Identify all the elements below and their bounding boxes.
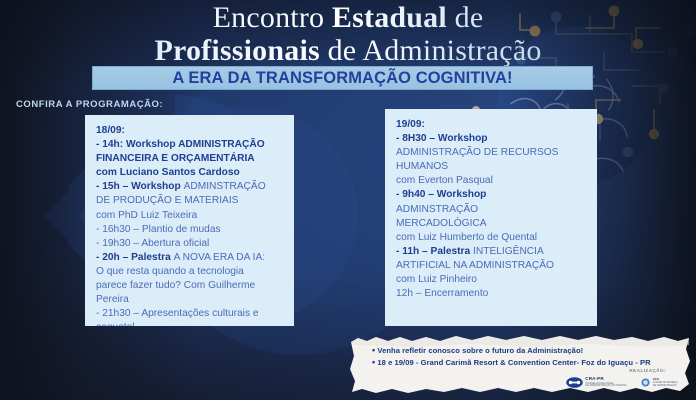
day2-lines: - 8H30 – WorkshopADMINISTRAÇÃO DE RECURS…: [396, 132, 586, 301]
title-word-de: de: [455, 1, 484, 34]
program-line-text: DE PRODUÇÃO E MATERIAIS: [96, 195, 238, 206]
bullet-dot-icon: •: [372, 345, 375, 355]
program-line-text: INTELIGÊNCIA: [473, 246, 544, 257]
program-line: - 9h40 – Workshop: [396, 188, 586, 202]
program-line: - 20h – Palestra A NOVA ERA DA IA:: [96, 251, 283, 265]
cra-pr-sub2: DE ADMINISTRAÇÃO DO PARANÁ: [585, 385, 627, 388]
program-line-text: 12h – Encerramento: [396, 288, 488, 299]
footer-bullets: • Venha refletir conosco sobre o futuro …: [372, 345, 672, 368]
program-line: parece fazer tudo? Com Guilherme: [96, 279, 283, 293]
logo-cra-pr: CRA-PR CONSELHO REGIONAL DE ADMINISTRAÇÃ…: [566, 377, 627, 388]
program-line-text: coquetel: [96, 322, 135, 326]
program-line: DE PRODUÇÃO E MATERIAIS: [96, 194, 283, 208]
cfa-emblem-icon: [636, 376, 651, 389]
program-line-text: com Everton Pasqual: [396, 175, 493, 186]
sponsor-logos: CRA-PR CONSELHO REGIONAL DE ADMINISTRAÇÃ…: [566, 376, 678, 389]
program-line-text: ADMINSTRAÇÃO: [184, 181, 266, 192]
program-line-text: com Luiz Humberto de Quental: [396, 232, 537, 243]
program-line-text: com Luiz Pinheiro: [396, 274, 477, 285]
program-line-text: ADMINISTRAÇÃO DE RECURSOS: [396, 147, 558, 158]
realization-label: REALIZAÇÃO:: [629, 368, 666, 373]
program-line-emphasis: - 9h40 – Workshop: [396, 189, 486, 200]
program-line-text: ARTIFICIAL NA ADMINISTRAÇÃO: [396, 260, 554, 271]
program-line-emphasis: - 8H30 – Workshop: [396, 133, 488, 144]
title-word-profissionais: Profissionais: [154, 34, 327, 67]
cfa-wordmark: CFA CONSELHO FEDERAL DE ADMINISTRAÇÃO: [653, 378, 678, 387]
program-line: O que resta quando a tecnologia: [96, 265, 283, 279]
program-line-text: Pereira: [96, 294, 129, 305]
program-line: - 8H30 – Workshop: [396, 132, 586, 146]
program-line: - 21h30 – Apresentações culturais e: [96, 307, 283, 321]
program-line-text: - 16h30 – Plantio de mudas: [96, 224, 221, 235]
program-line: MERCADOLÓGICA: [396, 217, 586, 231]
program-card-day1: 18/09: - 14h: Workshop ADMINISTRAÇÃOFINA…: [85, 115, 294, 326]
poster-title: Encontro Estadual de Profissionais de Ad…: [0, 2, 696, 67]
program-line-text: O que resta quando a tecnologia: [96, 266, 244, 277]
footer-bullet-1: • Venha refletir conosco sobre o futuro …: [372, 345, 672, 357]
footer-bullet-1-text: Venha refletir conosco sobre o futuro da…: [377, 346, 583, 355]
program-line-emphasis: - 11h – Palestra: [396, 246, 473, 257]
day1-lines: - 14h: Workshop ADMINISTRAÇÃOFINANCEIRA …: [96, 138, 283, 326]
day2-date: 19/09:: [396, 118, 586, 132]
title-word-estadual: Estadual: [324, 1, 454, 34]
program-line-text: - 21h30 – Apresentações culturais e: [96, 308, 259, 319]
program-line-emphasis: - 14h: Workshop ADMINISTRAÇÃO: [96, 139, 265, 150]
program-line: com PhD Luiz Teixeira: [96, 209, 283, 223]
cfa-sub2: DE ADMINISTRAÇÃO: [653, 385, 678, 387]
program-line: com Luiz Humberto de Quental: [396, 231, 586, 245]
program-line: - 15h – Workshop ADMINSTRAÇÃO: [96, 180, 283, 194]
program-line: ARTIFICIAL NA ADMINISTRAÇÃO: [396, 259, 586, 273]
program-line: coquetel: [96, 321, 283, 326]
cra-pr-wordmark: CRA-PR CONSELHO REGIONAL DE ADMINISTRAÇÃ…: [585, 377, 627, 387]
program-line-emphasis: - 20h – Palestra: [96, 252, 174, 263]
logo-cfa: CFA CONSELHO FEDERAL DE ADMINISTRAÇÃO: [636, 376, 678, 389]
footer-bullet-2: • 18 e 19/09 - Grand Carimã Resort & Con…: [372, 357, 672, 369]
title-word-encontro: Encontro: [213, 1, 325, 34]
program-label: CONFIRA A PROGRAMAÇÃO:: [16, 99, 163, 110]
program-line: 12h – Encerramento: [396, 287, 586, 301]
program-line-text: MERCADOLÓGICA: [396, 218, 487, 229]
program-line: - 19h30 – Abertura oficial: [96, 237, 283, 251]
footer-bullet-2-text: 18 e 19/09 - Grand Carimã Resort & Conve…: [377, 358, 650, 367]
program-line-text: HUMANOS: [396, 161, 448, 172]
poster: Encontro Estadual de Profissionais de Ad…: [0, 0, 696, 400]
program-line-emphasis: com Luciano Santos Cardoso: [96, 167, 240, 178]
program-line: - 16h30 – Plantio de mudas: [96, 223, 283, 237]
program-line: - 11h – Palestra INTELIGÊNCIA: [396, 245, 586, 259]
title-word-de-administracao: de Administração: [328, 34, 542, 67]
program-line: - 14h: Workshop ADMINISTRAÇÃO: [96, 138, 283, 152]
program-line: FINANCEIRA E ORÇAMENTÁRIA: [96, 152, 283, 166]
program-line-text: parece fazer tudo? Com Guilherme: [96, 280, 255, 291]
cra-pr-emblem-icon: [566, 377, 583, 388]
program-line: HUMANOS: [396, 160, 586, 174]
program-line: ADMINSTRAÇÃO: [396, 203, 586, 217]
program-line: Pereira: [96, 293, 283, 307]
title-line-2: Profissionais de Administração: [0, 35, 696, 67]
program-line-text: ADMINSTRAÇÃO: [396, 204, 478, 215]
program-line: com Everton Pasqual: [396, 174, 586, 188]
program-line-text: A NOVA ERA DA IA:: [174, 252, 266, 263]
program-line-text: - 19h30 – Abertura oficial: [96, 238, 209, 249]
title-line-1: Encontro Estadual de: [0, 2, 696, 34]
subtitle-text: A ERA DA TRANSFORMAÇÃO COGNITIVA!: [172, 69, 512, 88]
day1-date: 18/09:: [96, 124, 283, 138]
subtitle-banner: A ERA DA TRANSFORMAÇÃO COGNITIVA!: [92, 66, 593, 90]
program-line: ADMINISTRAÇÃO DE RECURSOS: [396, 146, 586, 160]
program-line: com Luciano Santos Cardoso: [96, 166, 283, 180]
program-card-day2: 19/09: - 8H30 – WorkshopADMINISTRAÇÃO DE…: [385, 109, 597, 326]
bullet-dot-icon: •: [372, 357, 375, 367]
program-line-emphasis: - 15h – Workshop: [96, 181, 184, 192]
program-line-emphasis: FINANCEIRA E ORÇAMENTÁRIA: [96, 153, 255, 164]
footer-banner: • Venha refletir conosco sobre o futuro …: [348, 335, 692, 396]
program-line: com Luiz Pinheiro: [396, 273, 586, 287]
program-line-text: com PhD Luiz Teixeira: [96, 210, 197, 221]
